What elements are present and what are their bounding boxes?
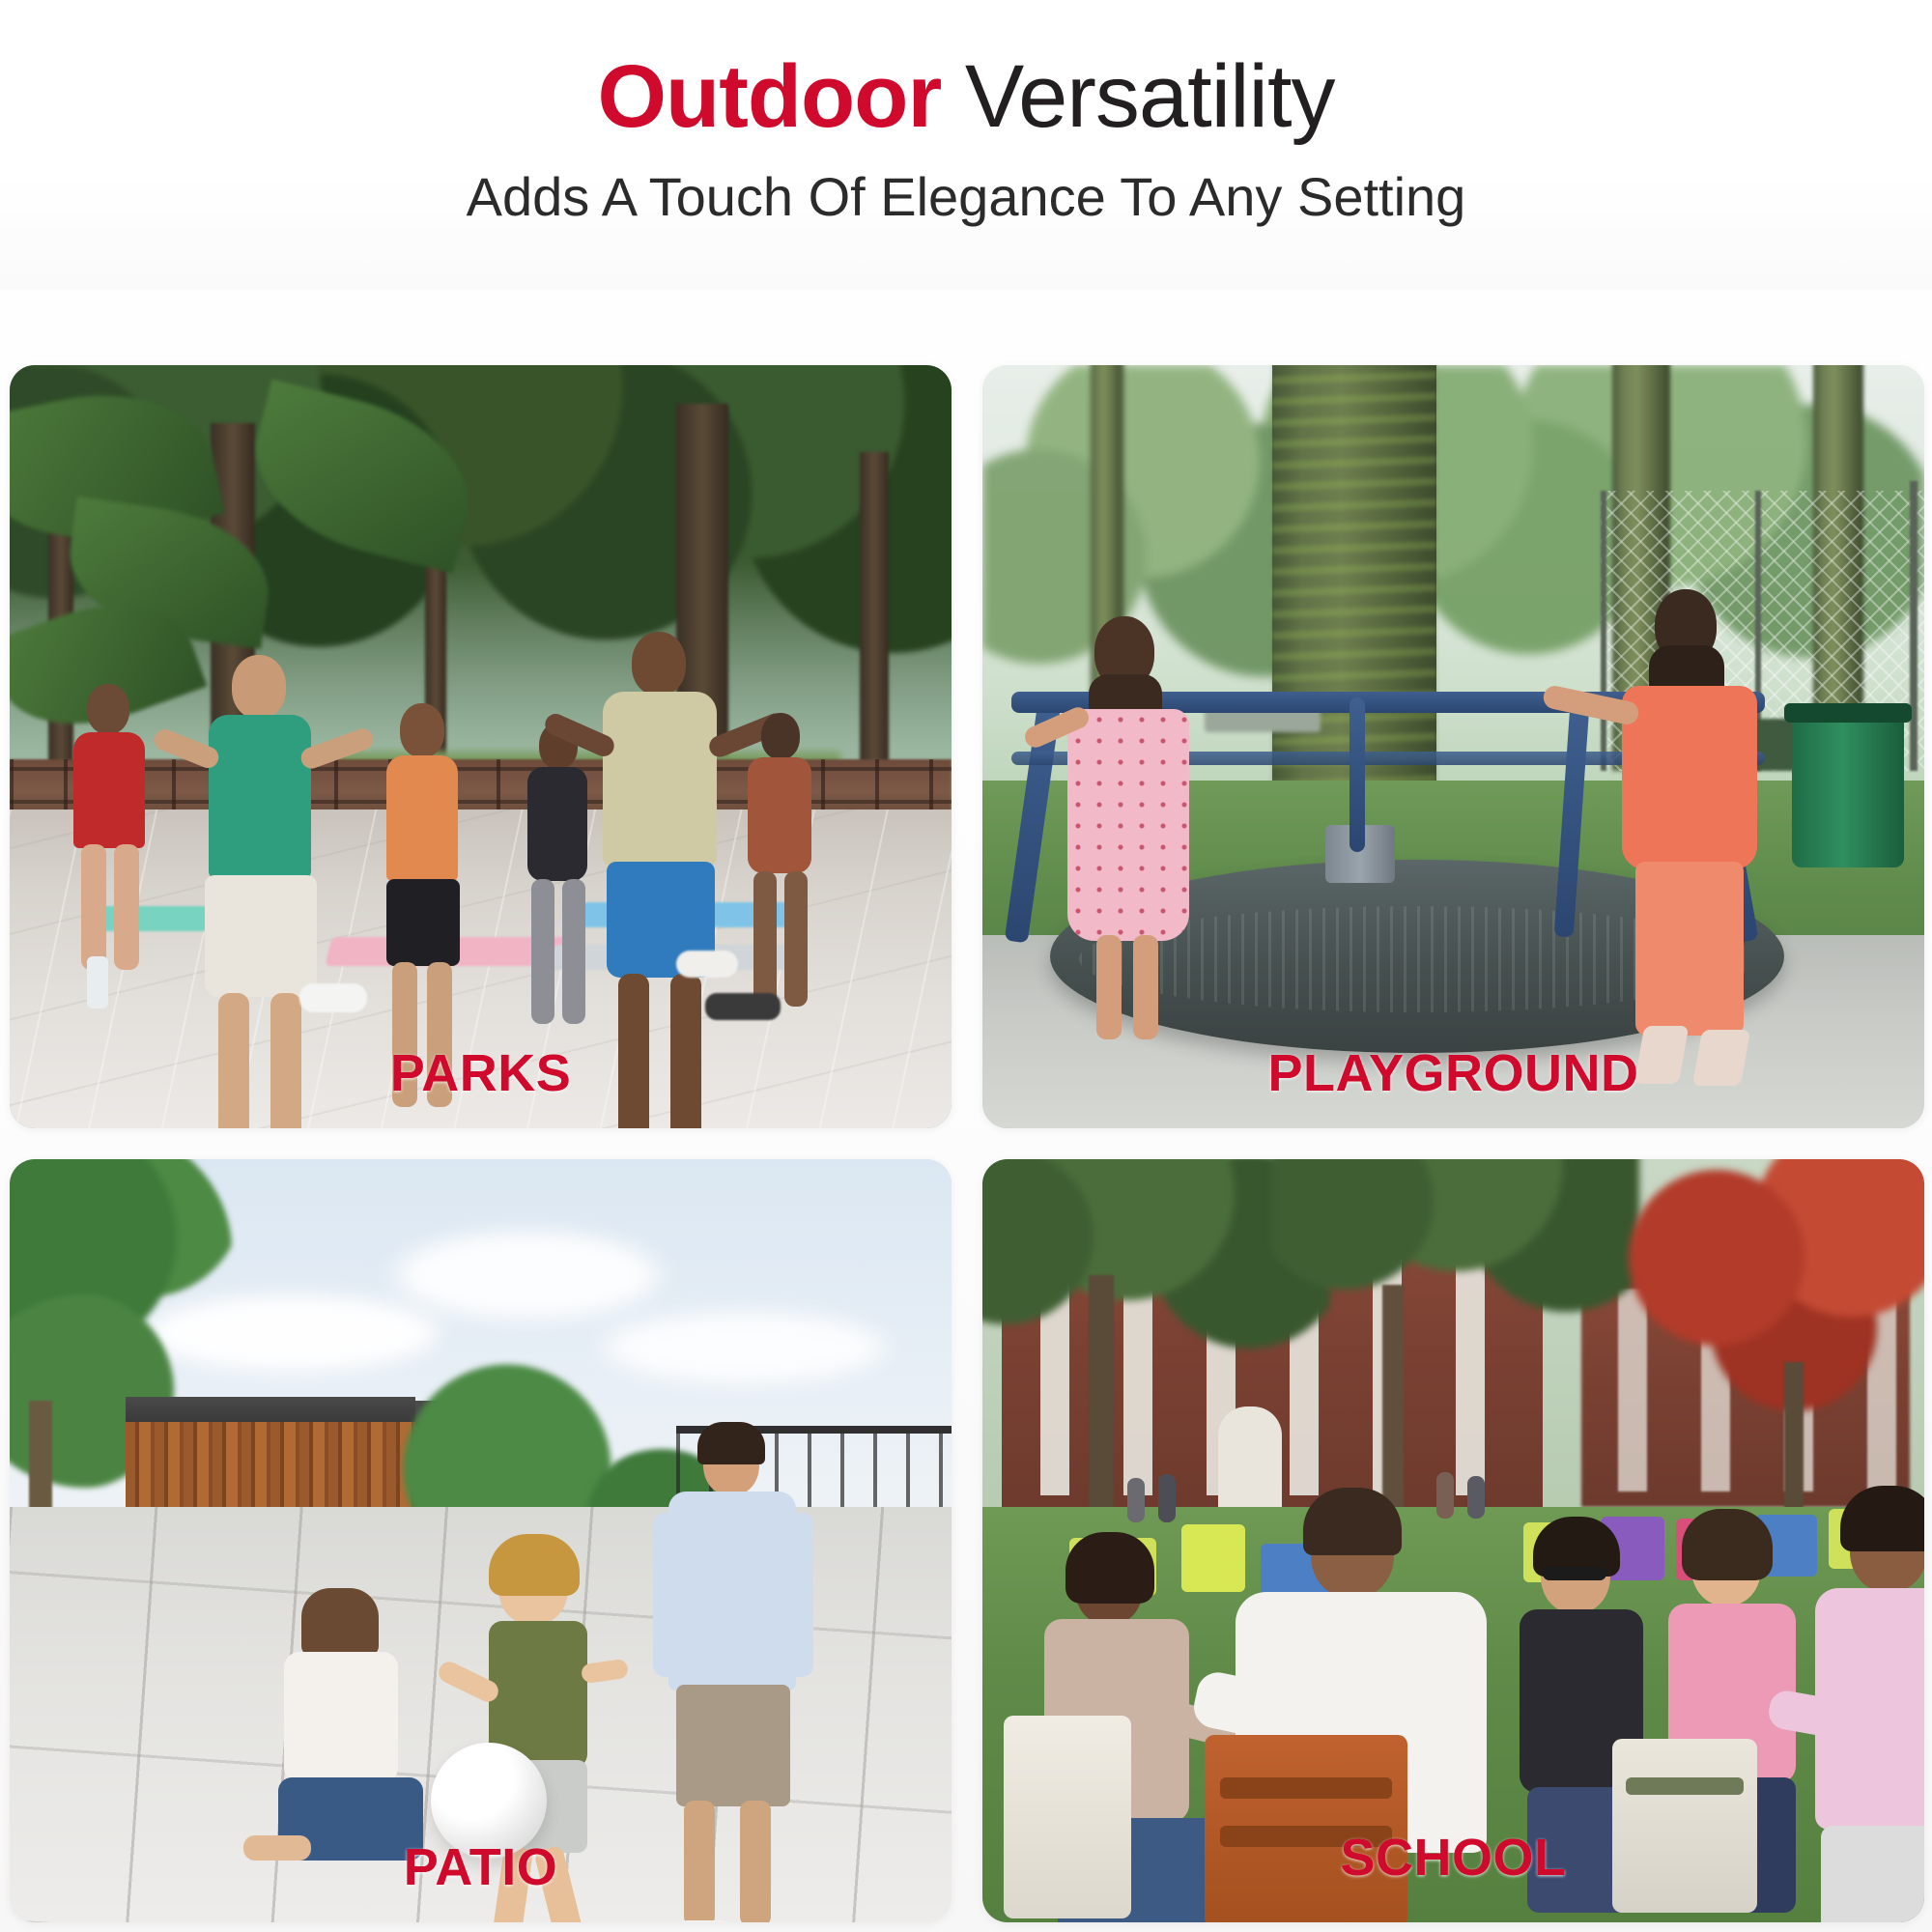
fence-post <box>1601 491 1606 771</box>
fence-post <box>1910 481 1918 771</box>
page-subtitle: Adds A Touch Of Elegance To Any Setting <box>0 144 1932 228</box>
sneaker <box>676 951 738 978</box>
person-distant <box>1158 1474 1176 1522</box>
water-bottle <box>87 956 108 1009</box>
page-title: Outdoor Versatility <box>0 0 1932 144</box>
header: Outdoor Versatility Adds A Touch Of Eleg… <box>0 0 1932 290</box>
trash-bin <box>1792 713 1904 867</box>
tree-canopy <box>1272 1159 1639 1352</box>
scene-school <box>982 1159 1924 1922</box>
lawn-chair <box>1181 1524 1245 1592</box>
feature-card-school[interactable]: SCHOOL <box>982 1159 1924 1922</box>
marketing-infographic: Outdoor Versatility Adds A Touch Of Eleg… <box>0 0 1932 1932</box>
merry-go-round-rail[interactable] <box>1350 697 1365 852</box>
feature-card-playground[interactable]: PLAYGROUND <box>982 365 1924 1128</box>
chair-slat <box>1626 1777 1744 1795</box>
scene-parks <box>10 365 952 1128</box>
title-highlight: Outdoor <box>597 47 941 146</box>
card-label-school: SCHOOL <box>982 1828 1924 1888</box>
sneaker <box>299 983 367 1012</box>
person-distant <box>1467 1476 1485 1519</box>
title-rest: Versatility <box>941 47 1334 146</box>
foreground-chair <box>1004 1716 1131 1918</box>
person-distant <box>1127 1478 1145 1522</box>
card-label-playground: PLAYGROUND <box>982 1043 1924 1103</box>
feature-card-patio[interactable]: PATIO <box>10 1159 952 1922</box>
scene-patio <box>10 1159 952 1922</box>
red-maple-tree <box>1601 1159 1924 1449</box>
card-label-patio: PATIO <box>10 1837 952 1897</box>
trash-bin-lid <box>1784 703 1912 723</box>
tree-trunk <box>860 452 889 810</box>
feature-grid: PARKS <box>10 365 1922 1922</box>
person-distant <box>1436 1472 1454 1519</box>
card-label-parks: PARKS <box>10 1043 952 1103</box>
feature-card-parks[interactable]: PARKS <box>10 365 952 1128</box>
sandal <box>705 993 781 1020</box>
fence-cap <box>126 1397 415 1422</box>
chair-slat <box>1220 1777 1392 1799</box>
scene-playground <box>982 365 1924 1128</box>
building-entrance <box>1218 1406 1282 1513</box>
eyeglasses <box>1543 1567 1606 1580</box>
